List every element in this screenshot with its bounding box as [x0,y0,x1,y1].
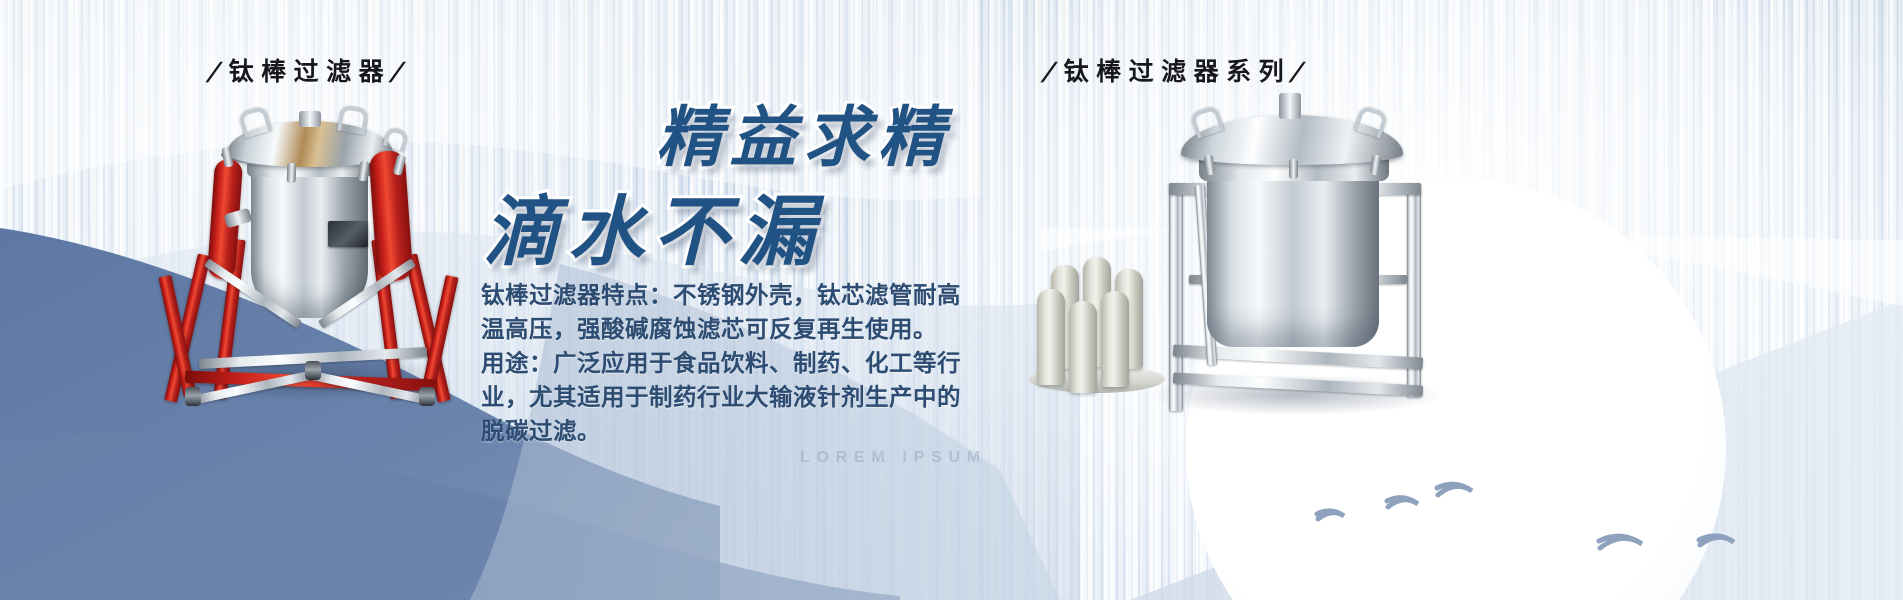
kicker-right-label: 钛棒过滤器系列 [1064,57,1292,86]
kicker-right-slash-end: / [1288,57,1315,86]
slogan-line-1: 精益求精 [656,84,952,180]
bird-icon [1317,511,1344,519]
product-description: 钛棒过滤器特点：不锈钢外壳，钛芯滤管耐高 温高压，强酸碱腐蚀滤芯可反复再生使用。… [481,278,1001,448]
description-line: 脱碳过滤。 [481,414,1001,448]
kicker-right: /钛棒过滤器系列/ [1043,52,1312,88]
description-line: 业，尤其适用于制药行业大输液针剂生产中的 [481,380,1001,414]
bird-icon [1437,484,1472,495]
kicker-left: /钛棒过滤器/ [208,52,412,88]
promo-banner: /钛棒过滤器/ /钛棒过滤器系列/ 精益求精 滴水不漏 钛棒过滤器特点：不锈钢外… [0,0,1903,600]
kicker-left-label: 钛棒过滤器 [229,57,392,86]
description-line: 温高压，强酸碱腐蚀滤芯可反复再生使用。 [481,312,1001,346]
bird-icon [1599,536,1642,548]
bird-icon [1699,536,1734,545]
kicker-left-slash-end: / [388,57,415,86]
bird-icon [1387,498,1418,507]
slogan-line-2: 滴水不漏 [483,170,823,280]
description-line: 用途：广泛应用于食品饮料、制药、化工等行 [481,346,1001,380]
watermark-text: LOREM IPSUM [800,449,987,467]
description-line: 钛棒过滤器特点：不锈钢外壳，钛芯滤管耐高 [481,278,1001,312]
